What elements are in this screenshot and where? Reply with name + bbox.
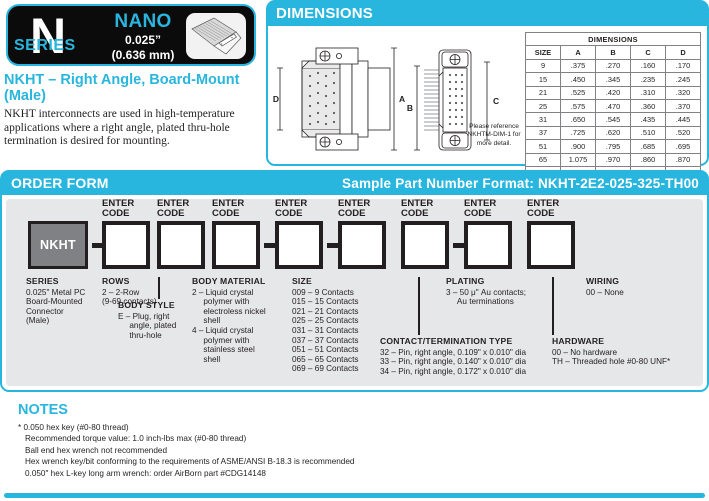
order-field-title: BODY STYLE (118, 301, 188, 311)
dimensions-value-cell: .685 (631, 140, 666, 153)
badge-pitch-mm: (0.636 mm) (98, 48, 188, 62)
dimensions-size-cell: 65 (526, 153, 561, 166)
note-item: Recommended torque value: 1.0 inch-lbs m… (25, 433, 699, 444)
badge-family-name: NANO (98, 11, 188, 33)
dimensions-value-cell: .525 (561, 86, 596, 99)
dimensions-value-cell: .870 (666, 153, 701, 166)
order-field-option: TH – Threaded hole #0-80 UNF* (552, 357, 709, 367)
order-field-size: SIZE009 – 9 Contacts015 – 15 Contacts021… (292, 277, 392, 374)
enter-code-label: ENTERCODE (464, 199, 496, 219)
product-description: NKHT interconnects are used in high-temp… (4, 108, 259, 149)
order-field-option: 021 – 21 Contacts (292, 307, 392, 317)
dimensions-size-cell: 51 (526, 140, 561, 153)
dimensions-value-cell: .510 (631, 126, 666, 139)
dimensions-panel: DIMENSIONS (266, 0, 709, 166)
order-field-option: 00 – None (586, 288, 676, 298)
note-item: Ball end hex wrench not recommended (25, 445, 699, 456)
order-field-option: shell (192, 355, 287, 365)
dimensions-col-b: B (596, 46, 631, 59)
dimensions-body: D A B C Please reference NKHTM-DIM-1 for… (268, 28, 707, 164)
order-field-option: 015 – 15 Contacts (292, 297, 392, 307)
code-input-box-7[interactable] (464, 221, 512, 269)
part-number-separator-dash (453, 243, 464, 248)
enter-code-label-line2: CODE (464, 209, 496, 219)
dimensions-value-cell: .310 (631, 86, 666, 99)
order-field-option: Connector (26, 307, 116, 317)
dimension-reference-note: Please reference NKHTM-DIM-1 for more de… (463, 123, 525, 148)
order-field-option: thru-hole (118, 331, 188, 341)
badge-series-word: SERIES (14, 37, 76, 55)
order-field-option: (Male) (26, 316, 116, 326)
table-row: 9.375.270.160.170 (526, 59, 701, 72)
svg-text:C: C (493, 96, 499, 106)
order-field-title: ROWS (102, 277, 182, 287)
order-field-option: 3 – 50 μ" Au contacts; (446, 288, 556, 298)
product-identity-panel: N SERIES NANO 0.025” (0.636 mm) (0, 0, 262, 166)
dimensions-header-label: DIMENSIONS (276, 5, 373, 22)
order-form-header: ORDER FORM Sample Part Number Format: NK… (2, 172, 707, 195)
enter-code-label: ENTERCODE (157, 199, 189, 219)
code-input-box-5[interactable] (338, 221, 386, 269)
order-form-title: ORDER FORM (11, 175, 109, 191)
dimensions-value-cell: .320 (666, 86, 701, 99)
order-field-option: shell (192, 316, 287, 326)
dimensions-size-cell: 9 (526, 59, 561, 72)
table-row: 15.450.345.235.245 (526, 73, 701, 86)
order-field-title: PLATING (446, 277, 556, 287)
note-item: Hex wrench key/bit conforming to the req… (25, 456, 699, 467)
dimensions-value-cell: .520 (666, 126, 701, 139)
dimensions-value-cell: .725 (561, 126, 596, 139)
dimensions-value-cell: .900 (561, 140, 596, 153)
series-code-box: NKHT (28, 221, 88, 269)
part-number-separator-dash (264, 243, 275, 248)
dimensions-value-cell: .795 (596, 140, 631, 153)
enter-code-label-line2: CODE (338, 209, 370, 219)
dimensions-value-cell: .450 (561, 73, 596, 86)
order-field-option: polymer with (192, 336, 287, 346)
code-input-box-2[interactable] (157, 221, 205, 269)
dimensions-value-cell: .545 (596, 113, 631, 126)
order-field-option: 069 – 69 Contacts (292, 364, 392, 374)
enter-code-label: ENTERCODE (212, 199, 244, 219)
order-field-option: 031 – 31 Contacts (292, 326, 392, 336)
order-field-option: 33 – Pin, right angle, 0.140" x 0.010" d… (380, 357, 550, 367)
dimensions-value-cell: .245 (666, 73, 701, 86)
enter-code-label-line2: CODE (527, 209, 559, 219)
dimensions-table-body: 9.375.270.160.17015.450.345.235.24521.52… (526, 59, 701, 180)
order-field-body-style: BODY STYLEE – Plug, right angle, plated … (118, 301, 188, 340)
dimensions-size-cell: 37 (526, 126, 561, 139)
code-input-box-1[interactable] (102, 221, 150, 269)
order-field-option: 00 – No hardware (552, 348, 709, 358)
order-field-option: polymer with (192, 297, 287, 307)
code-input-box-4[interactable] (275, 221, 323, 269)
order-field-option: angle, plated (118, 321, 188, 331)
order-field-option: 065 – 65 Contacts (292, 355, 392, 365)
enter-code-label: ENTERCODE (401, 199, 433, 219)
note-item: 0.050" hex L-key long arm wrench: order … (25, 468, 699, 479)
svg-text:D: D (273, 94, 279, 104)
dimensions-col-a: A (561, 46, 596, 59)
svg-text:A: A (399, 94, 405, 104)
code-input-box-6[interactable] (401, 221, 449, 269)
dimensions-table: DIMENSIONS SIZEABCD 9.375.270.160.17015.… (525, 32, 701, 180)
table-row: 31.650.545.435.445 (526, 113, 701, 126)
order-field-option: Au terminations (446, 297, 556, 307)
table-row: 651.075.970.860.870 (526, 153, 701, 166)
dimensions-value-cell: .235 (631, 73, 666, 86)
dimensions-value-cell: .860 (631, 153, 666, 166)
dimensions-value-cell: .160 (631, 59, 666, 72)
dimensions-value-cell: .445 (666, 113, 701, 126)
leader-line (552, 277, 554, 335)
order-field-option: electroless nickel (192, 307, 287, 317)
sample-part-number: Sample Part Number Format: NKHT-2E2-025-… (342, 176, 699, 191)
dimensions-size-cell: 31 (526, 113, 561, 126)
dimensions-value-cell: .370 (666, 99, 701, 112)
order-field-title: SIZE (292, 277, 392, 287)
page-title: NKHT – Right Angle, Board-Mount (Male) (4, 72, 260, 104)
order-field-option: 025 – 25 Contacts (292, 316, 392, 326)
enter-code-label-line2: CODE (212, 209, 244, 219)
enter-code-label-line2: CODE (401, 209, 433, 219)
order-field-option: E – Plug, right (118, 312, 188, 322)
dimensions-value-cell: .435 (631, 113, 666, 126)
order-field-option: 2 – 2-Row (102, 288, 182, 298)
dimensions-value-cell: .620 (596, 126, 631, 139)
code-input-box-8[interactable] (527, 221, 575, 269)
table-row: 25.575.470.360.370 (526, 99, 701, 112)
order-code-box-row: NKHT ENTERCODEENTERCODEENTERCODEENTERCOD… (6, 199, 703, 269)
order-field-option: 037 – 37 Contacts (292, 336, 392, 346)
dimensions-value-cell: .695 (666, 140, 701, 153)
badge-pitch-inch: 0.025” (98, 33, 188, 47)
dimensions-value-cell: .345 (596, 73, 631, 86)
order-field-plating: PLATING3 – 50 μ" Au contacts; Au termina… (446, 277, 556, 307)
table-row: 21.525.420.310.320 (526, 86, 701, 99)
note-item: * 0.050 hex key (#0-80 thread) (18, 422, 699, 433)
order-field-title: HARDWARE (552, 337, 709, 347)
notes-title: NOTES (18, 402, 68, 418)
order-field-title: BODY MATERIAL (192, 277, 287, 287)
enter-code-label: ENTERCODE (338, 199, 370, 219)
dimensions-col-size: SIZE (526, 46, 561, 59)
dimensions-col-d: D (666, 46, 701, 59)
dimensions-value-cell: .420 (596, 86, 631, 99)
leader-line (158, 277, 160, 299)
notes-list: * 0.050 hex key (#0-80 thread)Recommende… (18, 422, 699, 479)
dimensions-value-cell: .270 (596, 59, 631, 72)
enter-code-label: ENTERCODE (275, 199, 307, 219)
table-row: 37.725.620.510.520 (526, 126, 701, 139)
datasheet-page: N SERIES NANO 0.025” (0.636 mm) (0, 0, 709, 501)
order-field-title: WIRING (586, 277, 676, 287)
order-field-option: 34 – Pin, right angle, 0.172" x 0.010" d… (380, 367, 550, 377)
connector-thumbnail-icon (186, 13, 246, 59)
dimensions-col-c: C (631, 46, 666, 59)
notes-panel: NOTES * 0.050 hex key (#0-80 thread)Reco… (0, 396, 709, 501)
dimensions-table-title: DIMENSIONS (526, 33, 701, 46)
dimensions-size-cell: 21 (526, 86, 561, 99)
order-form-panel: ORDER FORM Sample Part Number Format: NK… (0, 170, 709, 392)
order-field-hardware: HARDWARE00 – No hardwareTH – Threaded ho… (552, 337, 709, 367)
dimensions-value-cell: .970 (596, 153, 631, 166)
dimensions-value-cell: .360 (631, 99, 666, 112)
order-field-option: 32 – Pin, right angle, 0.109" x 0.010" d… (380, 348, 550, 358)
svg-text:B: B (407, 103, 413, 113)
enter-code-label: ENTERCODE (102, 199, 134, 219)
enter-code-label-line2: CODE (102, 209, 134, 219)
bottom-accent-bar (4, 493, 705, 498)
order-field-option: 009 – 9 Contacts (292, 288, 392, 298)
order-field-wiring: WIRING00 – None (586, 277, 676, 297)
order-field-title: CONTACT/TERMINATION TYPE (380, 337, 550, 347)
dimensions-header: DIMENSIONS (268, 2, 707, 26)
dimensions-value-cell: .170 (666, 59, 701, 72)
dimensions-value-cell: .650 (561, 113, 596, 126)
order-field-contact-termination-type: CONTACT/TERMINATION TYPE32 – Pin, right … (380, 337, 550, 376)
dimensions-value-cell: .470 (596, 99, 631, 112)
order-field-body-material: BODY MATERIAL2 – Liquid crystal polymer … (192, 277, 287, 364)
dimensions-table-header-row: SIZEABCD (526, 46, 701, 59)
part-number-separator-dash (327, 243, 338, 248)
code-input-box-3[interactable] (212, 221, 260, 269)
series-badge: N SERIES NANO 0.025” (0.636 mm) (6, 4, 256, 66)
enter-code-label-line2: CODE (157, 209, 189, 219)
order-form-body: NKHT ENTERCODEENTERCODEENTERCODEENTERCOD… (6, 199, 703, 386)
badge-letter-n: N (30, 7, 66, 65)
dimensions-size-cell: 25 (526, 99, 561, 112)
enter-code-label-line2: CODE (275, 209, 307, 219)
order-field-option: 4 – Liquid crystal (192, 326, 287, 336)
dimensions-size-cell: 15 (526, 73, 561, 86)
enter-code-label: ENTERCODE (527, 199, 559, 219)
order-field-option: 051 – 51 Contacts (292, 345, 392, 355)
dimensions-value-cell: .375 (561, 59, 596, 72)
dimensions-value-cell: .575 (561, 99, 596, 112)
leader-line (418, 277, 420, 335)
order-field-option: 2 – Liquid crystal (192, 288, 287, 298)
table-row: 51.900.795.685.695 (526, 140, 701, 153)
order-field-option: stainless steel (192, 345, 287, 355)
dimensions-value-cell: 1.075 (561, 153, 596, 166)
